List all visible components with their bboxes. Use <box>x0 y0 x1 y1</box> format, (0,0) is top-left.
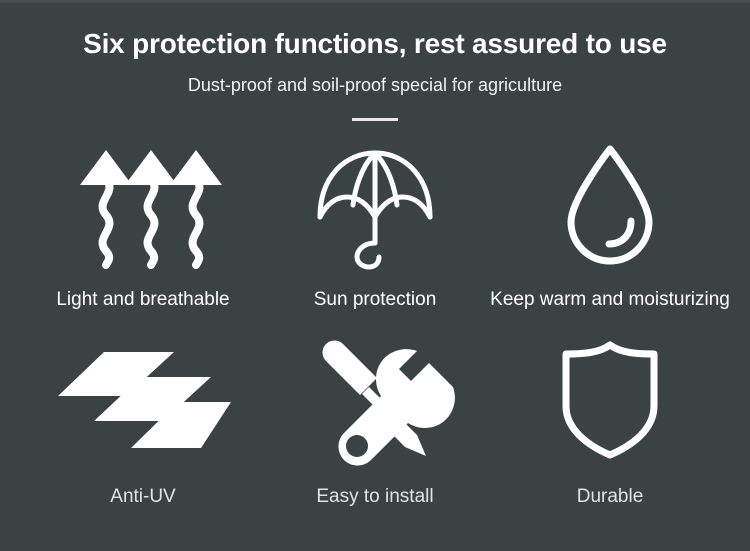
feature-label: Keep warm and moisturizing <box>490 289 730 310</box>
feature-label: Sun protection <box>314 289 437 310</box>
feature-item-sun-protection: Sun protection <box>250 140 500 320</box>
feature-item-easy-to-install: Easy to install <box>250 335 500 525</box>
feature-label-row: Keep warm and moisturizing <box>485 288 735 312</box>
feature-label: Durable <box>577 486 644 507</box>
page-subtitle: Dust-proof and soil-proof special for ag… <box>0 72 750 98</box>
umbrella-icon <box>315 145 435 265</box>
top-edge-strip <box>0 0 750 3</box>
icon-container <box>485 335 735 465</box>
feature-label: Light and breathable <box>56 289 229 310</box>
feature-item-durable: Durable <box>485 335 735 525</box>
shield-icon <box>561 342 659 458</box>
icon-container <box>250 335 500 465</box>
feature-label-row: Anti-UV <box>18 485 268 509</box>
icon-container <box>485 140 735 270</box>
water-droplet-icon <box>565 143 655 267</box>
icon-container <box>18 140 268 270</box>
layered-sheets-icon <box>56 350 231 450</box>
divider-rule <box>352 118 398 121</box>
feature-label-row: Sun protection <box>250 288 500 312</box>
divider-container <box>0 118 750 124</box>
icon-container <box>18 335 268 465</box>
feature-label-row: Easy to install <box>250 485 500 509</box>
feature-item-keep-warm-and-moisturizing: Keep warm and moisturizing <box>485 140 735 320</box>
feature-banner: Six protection functions, rest assured t… <box>0 0 750 551</box>
feature-label-row: Durable <box>485 485 735 509</box>
page-title: Six protection functions, rest assured t… <box>0 26 750 62</box>
feature-grid: Light and breathable <box>0 140 750 540</box>
icon-container <box>250 140 500 270</box>
feature-item-anti-uv: Anti-UV <box>18 335 268 525</box>
feature-label-row: Light and breathable <box>18 288 268 312</box>
feature-label: Easy to install <box>316 486 433 507</box>
wavy-up-arrows-icon <box>78 143 208 268</box>
feature-label: Anti-UV <box>110 486 175 507</box>
feature-item-light-and-breathable: Light and breathable <box>18 140 268 320</box>
wrench-and-screwdriver-icon <box>314 341 436 459</box>
